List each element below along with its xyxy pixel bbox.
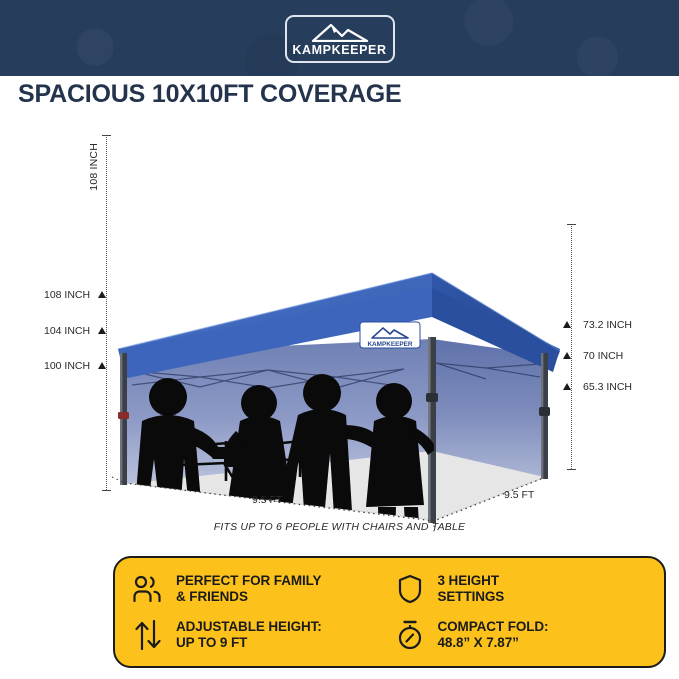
overall-height-label: 108 INCH bbox=[88, 143, 100, 191]
feature-family: PERFECT FOR FAMILY & FRIENDS bbox=[131, 566, 393, 612]
left-height-tick-1 bbox=[98, 291, 106, 298]
feature-family-line2: & FRIENDS bbox=[176, 589, 248, 604]
feature-height-settings-line2: SETTINGS bbox=[438, 589, 505, 604]
feature-adjustable-height: ADJUSTABLE HEIGHT: UP TO 9 FT bbox=[131, 612, 393, 658]
feature-family-line1: PERFECT FOR FAMILY bbox=[176, 573, 321, 588]
right-height-label-1: 73.2 INCH bbox=[583, 319, 632, 331]
left-height-tick-2 bbox=[98, 327, 106, 334]
canopy-illustration: KAMPKEEPER bbox=[0, 125, 679, 550]
brand-logo: KAMPKEEPER bbox=[285, 15, 395, 63]
canopy-logo-patch: KAMPKEEPER bbox=[360, 322, 420, 348]
up-down-arrows-icon bbox=[131, 618, 165, 652]
right-height-tick-1 bbox=[563, 321, 571, 328]
page-title: SPACIOUS 10X10FT COVERAGE bbox=[18, 80, 402, 109]
canopy-graphic: KAMPKEEPER bbox=[0, 125, 679, 550]
left-dimension-line bbox=[106, 135, 107, 490]
feature-adjustable-height-text: ADJUSTABLE HEIGHT: UP TO 9 FT bbox=[176, 619, 322, 651]
brand-header: KAMPKEEPER bbox=[0, 0, 679, 76]
right-dimension-cap-top bbox=[567, 224, 576, 225]
mountain-icon bbox=[309, 22, 371, 42]
feature-compact-fold-text: COMPACT FOLD: 48.8” X 7.87” bbox=[438, 619, 549, 651]
left-height-label-3: 100 INCH bbox=[44, 360, 90, 372]
feature-adjustable-height-line1: ADJUSTABLE HEIGHT: bbox=[176, 619, 322, 634]
feature-height-settings-text: 3 HEIGHT SETTINGS bbox=[438, 573, 505, 605]
feature-height-settings: 3 HEIGHT SETTINGS bbox=[393, 566, 655, 612]
right-height-label-3: 65.3 INCH bbox=[583, 381, 632, 393]
left-height-label-2: 104 INCH bbox=[44, 325, 90, 337]
right-height-tick-3 bbox=[563, 383, 571, 390]
brand-name: KAMPKEEPER bbox=[292, 44, 386, 57]
left-dimension-cap-top bbox=[102, 135, 111, 136]
left-dimension-cap-bottom bbox=[102, 490, 111, 491]
left-height-tick-3 bbox=[98, 362, 106, 369]
right-dimension-cap-bottom bbox=[567, 469, 576, 470]
feature-compact-fold-line1: COMPACT FOLD: bbox=[438, 619, 549, 634]
features-panel: PERFECT FOR FAMILY & FRIENDS 3 HEIGHT SE… bbox=[113, 556, 666, 668]
right-dimension-line bbox=[571, 224, 572, 469]
shield-icon bbox=[393, 572, 427, 606]
footprint-front-label: 9.5 FT bbox=[252, 494, 282, 506]
right-height-label-2: 70 INCH bbox=[583, 350, 623, 362]
product-infographic: KAMPKEEPER SPACIOUS 10X10FT COVERAGE bbox=[0, 0, 679, 679]
feature-compact-fold: COMPACT FOLD: 48.8” X 7.87” bbox=[393, 612, 655, 658]
feature-compact-fold-line2: 48.8” X 7.87” bbox=[438, 635, 519, 650]
footprint-side-label: 9.5 FT bbox=[504, 489, 534, 501]
stopwatch-icon bbox=[393, 618, 427, 652]
svg-text:KAMPKEEPER: KAMPKEEPER bbox=[367, 341, 412, 348]
feature-adjustable-height-line2: UP TO 9 FT bbox=[176, 635, 247, 650]
right-height-tick-2 bbox=[563, 352, 571, 359]
left-height-label-1: 108 INCH bbox=[44, 289, 90, 301]
people-icon bbox=[131, 572, 165, 606]
feature-family-text: PERFECT FOR FAMILY & FRIENDS bbox=[176, 573, 321, 605]
capacity-caption: FITS UP TO 6 PEOPLE WITH CHAIRS AND TABL… bbox=[0, 521, 679, 533]
feature-height-settings-line1: 3 HEIGHT bbox=[438, 573, 499, 588]
